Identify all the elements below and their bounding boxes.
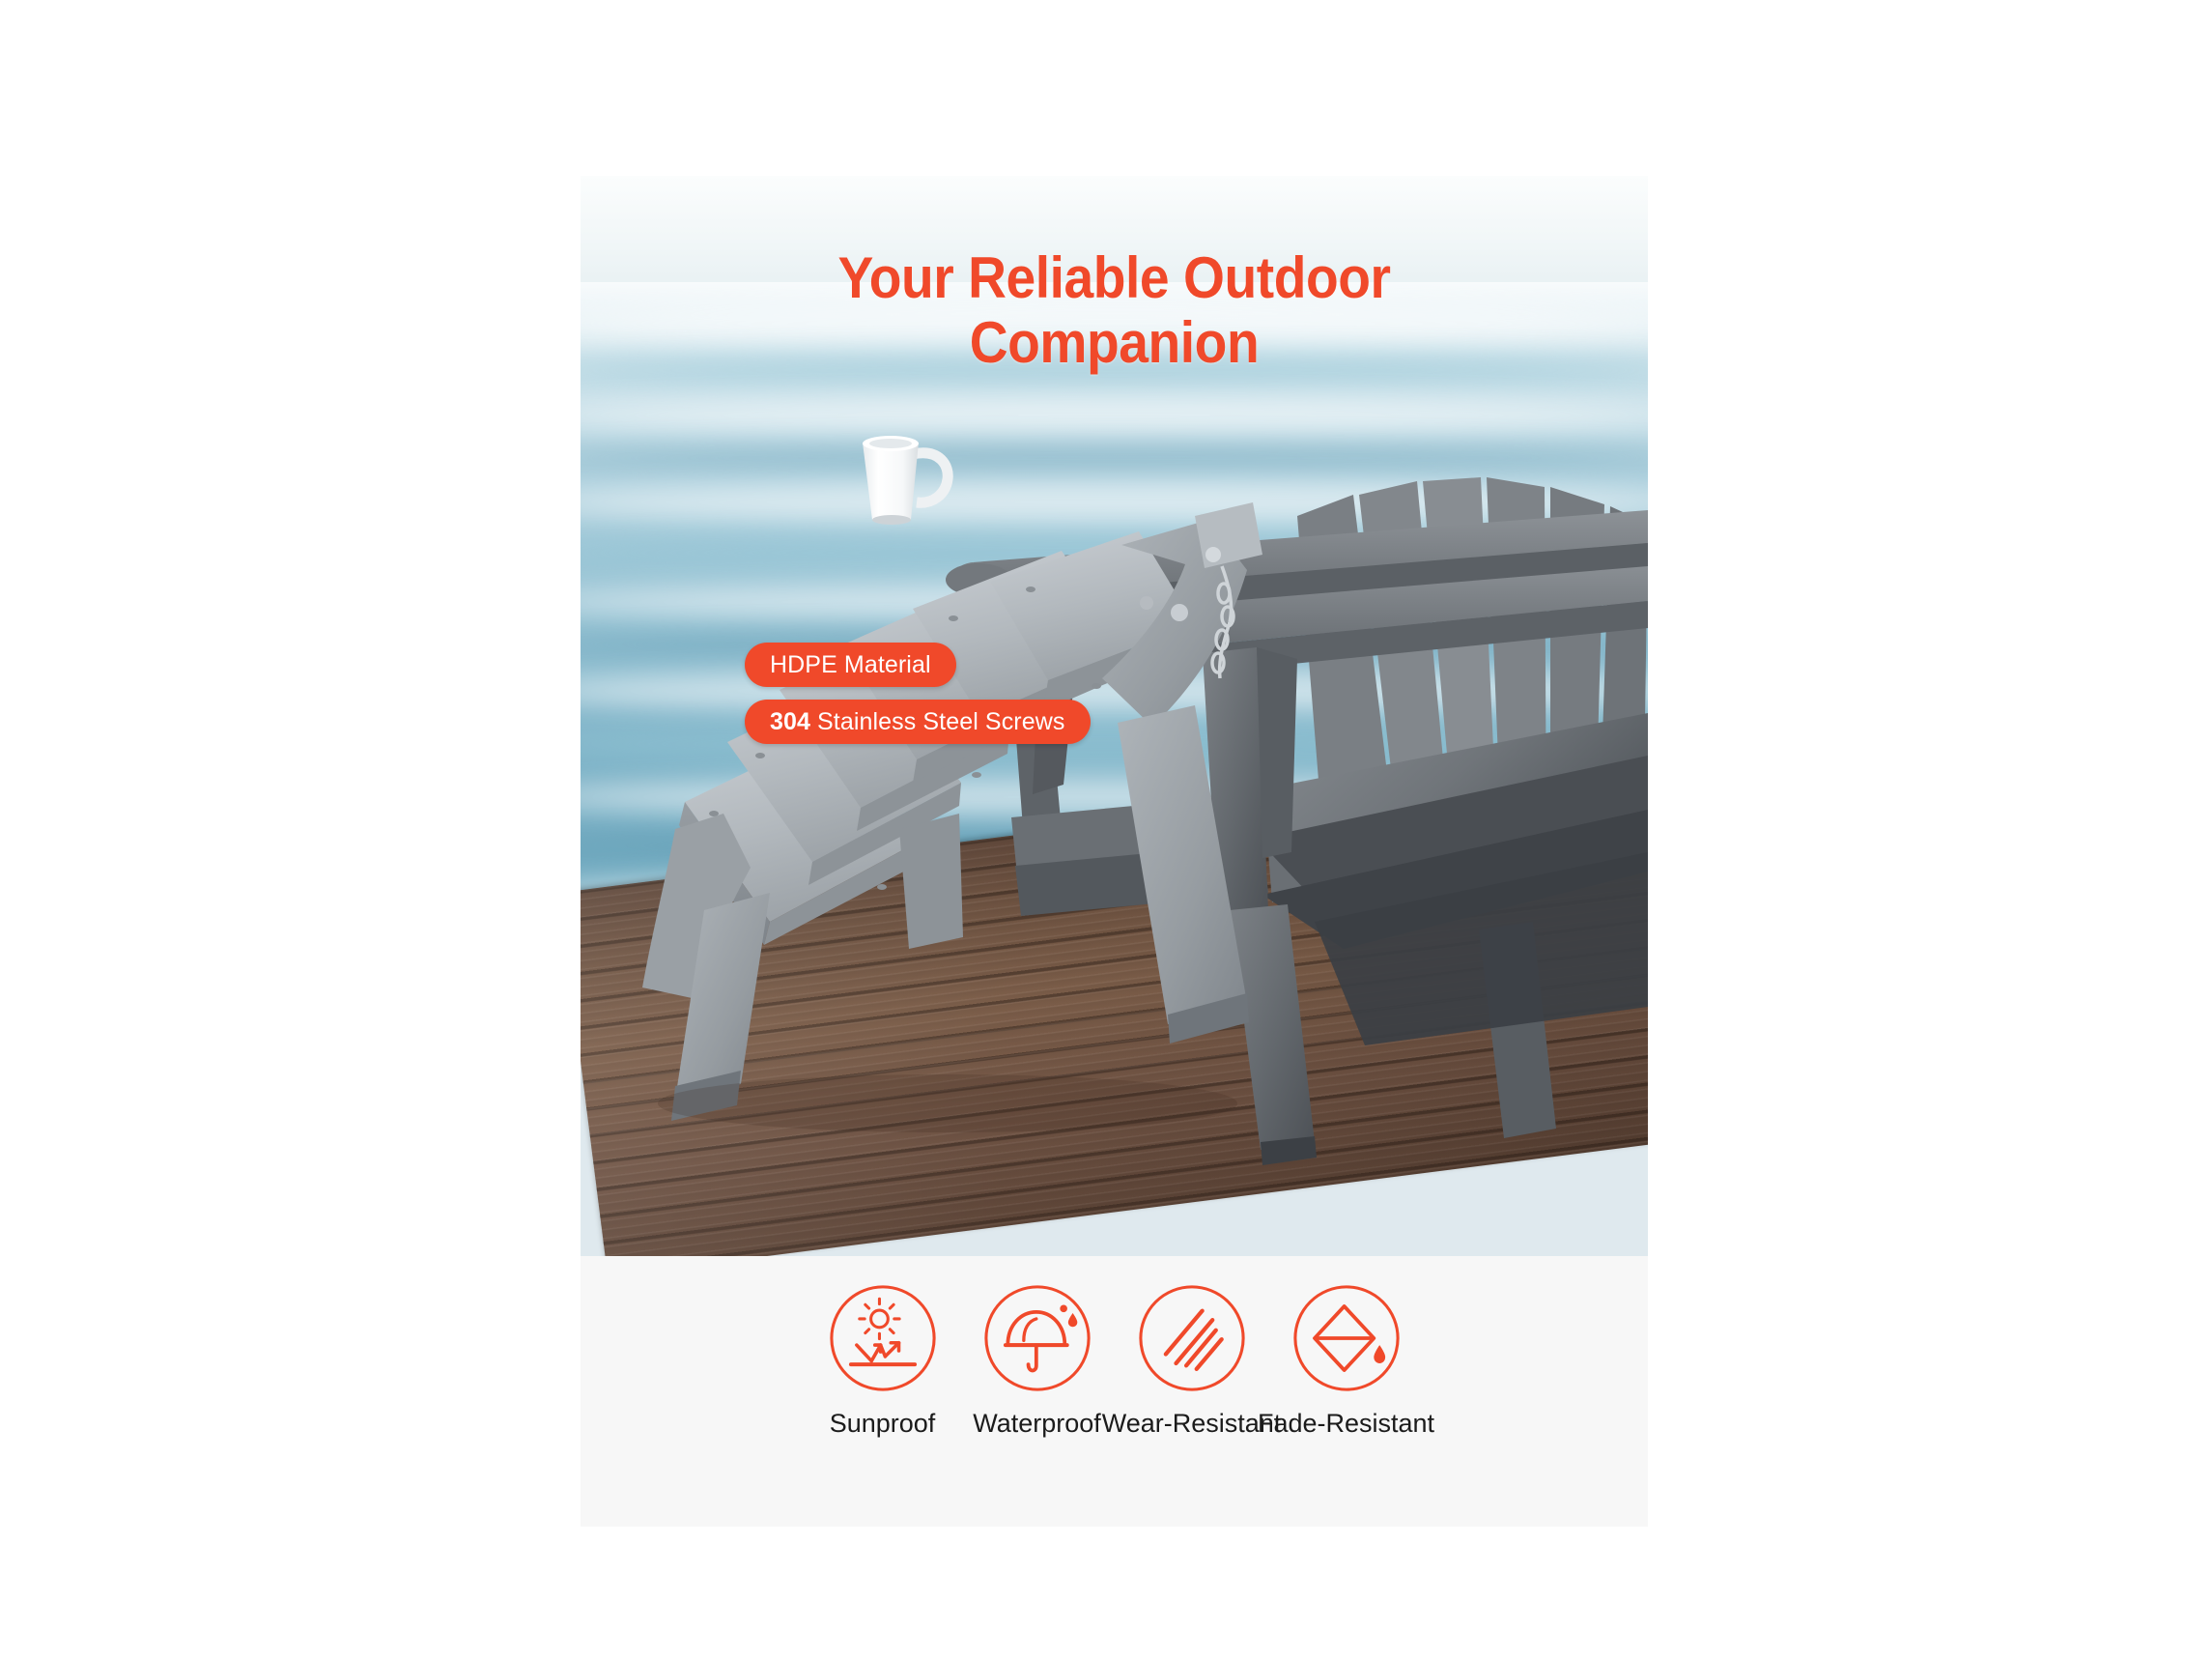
feature-label: Sunproof <box>830 1409 936 1439</box>
wave-highlight <box>581 584 1648 620</box>
feature-label: Fade-Resistant <box>1258 1409 1434 1439</box>
umbrella-droplet-icon <box>980 1281 1094 1395</box>
badge-list: HDPE Material 304 Stainless Steel Screws <box>745 643 1091 744</box>
wave-band <box>581 535 1648 570</box>
badge-label: HDPE Material <box>770 651 931 679</box>
feature-label: Waterproof <box>973 1409 1101 1439</box>
wave-band <box>581 630 1648 659</box>
wave-highlight <box>581 396 1648 435</box>
wave-band <box>581 725 1648 763</box>
scratch-lines-icon <box>1135 1281 1249 1395</box>
wave-highlight <box>581 481 1648 524</box>
paint-drop-icon <box>1290 1281 1404 1395</box>
hero-product-photo: Your Reliable Outdoor Companion HDPE Mat… <box>581 176 1648 1256</box>
page-canvas: Your Reliable Outdoor Companion HDPE Mat… <box>0 0 2212 1659</box>
badge-stainless-screws: 304 Stainless Steel Screws <box>745 700 1091 744</box>
feature-label: Wear-Resistant <box>1102 1409 1282 1439</box>
wave-band <box>581 444 1648 472</box>
badge-hdpe-material: HDPE Material <box>745 643 956 687</box>
hero-headline: Your Reliable Outdoor Companion <box>623 245 1605 375</box>
sun-reflect-icon <box>826 1281 940 1395</box>
feature-sunproof: Sunproof <box>806 1281 960 1439</box>
wave-highlight <box>581 669 1648 713</box>
feature-fade-resistant: Fade-Resistant <box>1269 1281 1424 1439</box>
badge-emphasis: 304 <box>770 708 810 736</box>
feature-wear-resistant: Wear-Resistant <box>1115 1281 1269 1439</box>
badge-label: Stainless Steel Screws <box>817 708 1064 736</box>
feature-icon-band: Sunproof Waterproof <box>581 1256 1648 1527</box>
product-feature-card: Your Reliable Outdoor Companion HDPE Mat… <box>581 176 1648 1527</box>
feature-waterproof: Waterproof <box>960 1281 1115 1439</box>
